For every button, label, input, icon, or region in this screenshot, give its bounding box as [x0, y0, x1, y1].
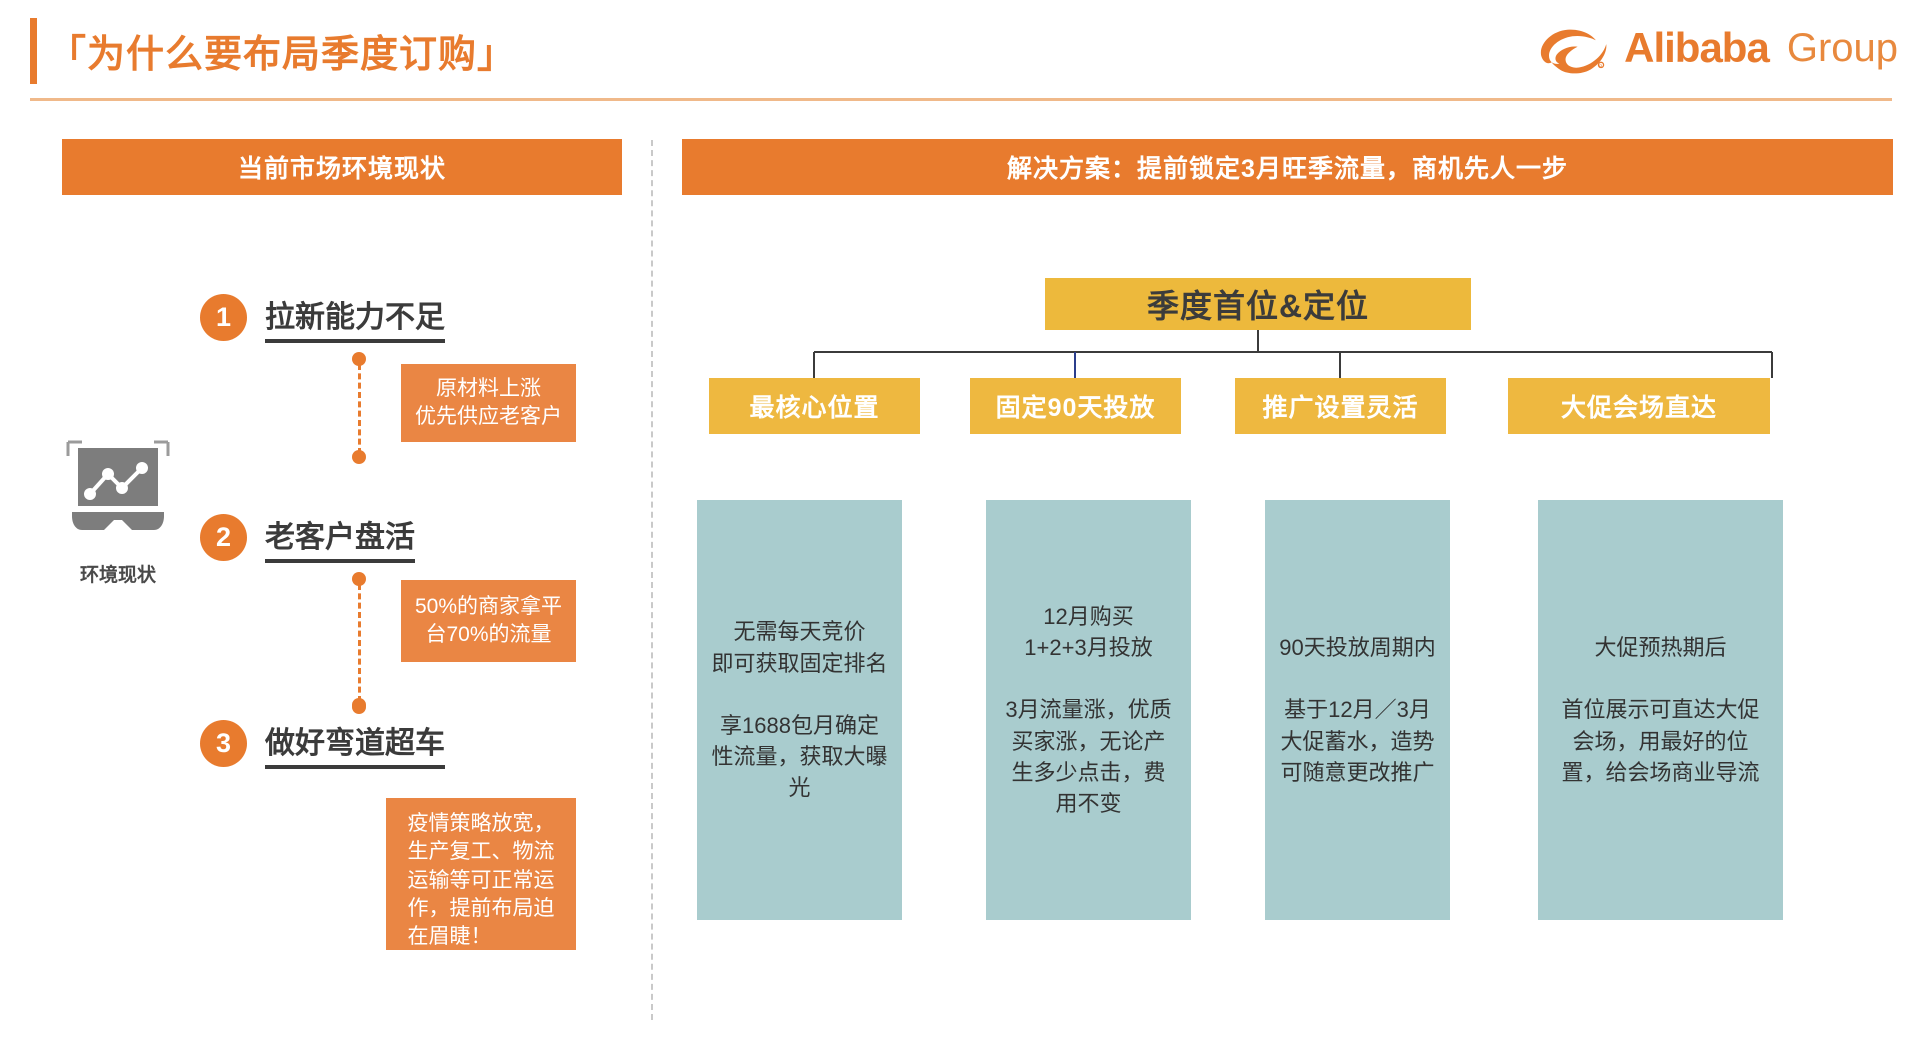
solution-root-box: 季度首位&定位 — [1045, 278, 1471, 330]
issue-callout-text: 疫情策略放宽， 生产复工、物流 运输等可正常运 作，提前布局迫 在眉睫！ — [408, 810, 555, 952]
issue-callout-text: 原材料上涨 优先供应老客户 — [415, 375, 562, 432]
solution-detail-text: 大促预热期后 首位展示可直达大促 会场，用最好的位 置，给会场商业导流 — [1561, 632, 1759, 788]
connector-dot — [352, 450, 366, 464]
chart-monitor-icon — [64, 438, 172, 548]
right-section-header: 解决方案：提前锁定3月旺季流量，商机先人一步 — [682, 139, 1893, 195]
issue-label: 拉新能力不足 — [265, 292, 445, 343]
solution-branch-label: 最核心位置 — [749, 388, 879, 424]
issue-item-3: 3 做好弯道超车 — [200, 718, 445, 769]
dashed-connector-1 — [352, 352, 366, 464]
dashed-connector-3 — [352, 700, 366, 714]
solution-branch-label: 推广设置灵活 — [1262, 388, 1418, 424]
solution-detail-panel-4: 大促预热期后 首位展示可直达大促 会场，用最好的位 置，给会场商业导流 — [1538, 500, 1783, 920]
solution-root-label: 季度首位&定位 — [1147, 281, 1369, 327]
alibaba-smiley-icon: R — [1536, 22, 1614, 74]
dashed-connector-2 — [352, 572, 366, 712]
connector-dot — [352, 700, 366, 714]
alibaba-group-logo: R Alibaba Group — [1536, 20, 1898, 76]
solution-detail-text: 12月购买 1+2+3月投放 3月流量涨，优质 买家涨，无论产 生多少点击，费 … — [1005, 601, 1171, 820]
issue-callout-3: 疫情策略放宽， 生产复工、物流 运输等可正常运 作，提前布局迫 在眉睫！ — [386, 798, 576, 950]
issue-callout-1: 原材料上涨 优先供应老客户 — [401, 364, 576, 442]
issue-label: 做好弯道超车 — [265, 718, 445, 769]
solution-branch-2: 固定90天投放 — [970, 378, 1181, 434]
solution-branch-4: 大促会场直达 — [1508, 378, 1770, 434]
logo-wordmark-group: Group — [1787, 28, 1898, 68]
solution-detail-text: 90天投放周期内 基于12月／3月 大促蓄水，造势 可随意更改推广 — [1279, 632, 1435, 788]
issue-callout-text: 50%的商家拿平 台70%的流量 — [415, 593, 562, 650]
environment-status-label: 环境现状 — [58, 560, 178, 587]
solution-branch-3: 推广设置灵活 — [1235, 378, 1446, 434]
issue-label: 老客户盘活 — [265, 512, 415, 563]
solution-detail-panel-3: 90天投放周期内 基于12月／3月 大促蓄水，造势 可随意更改推广 — [1265, 500, 1450, 920]
environment-status-icon-group: 环境现状 — [58, 438, 178, 587]
issue-number-badge: 1 — [200, 294, 247, 341]
solution-branch-1: 最核心位置 — [709, 378, 920, 434]
solution-branch-label: 固定90天投放 — [996, 388, 1156, 424]
column-divider — [651, 140, 653, 1020]
right-section-header-label: 解决方案：提前锁定3月旺季流量，商机先人一步 — [1007, 149, 1568, 185]
solution-detail-text: 无需每天竞价 即可获取固定排名 享1688包月确定 性流量，获取大曝 光 — [711, 616, 887, 803]
slide-root: 「为什么要布局季度订购」 R Alibaba Group 当前市场环境现状 — [0, 0, 1920, 1040]
issue-callout-2: 50%的商家拿平 台70%的流量 — [401, 580, 576, 662]
title-accent-bar — [30, 18, 37, 84]
solution-detail-panel-2: 12月购买 1+2+3月投放 3月流量涨，优质 买家涨，无论产 生多少点击，费 … — [986, 500, 1191, 920]
issue-number-badge: 3 — [200, 720, 247, 767]
solution-detail-panel-1: 无需每天竞价 即可获取固定排名 享1688包月确定 性流量，获取大曝 光 — [697, 500, 902, 920]
issue-item-2: 2 老客户盘活 — [200, 512, 415, 563]
issue-number-badge: 2 — [200, 514, 247, 561]
left-section-header: 当前市场环境现状 — [62, 139, 622, 195]
header-divider-rule — [30, 98, 1892, 101]
connector-dash-line — [358, 584, 361, 702]
left-section-header-label: 当前市场环境现状 — [238, 149, 446, 185]
solution-branch-label: 大促会场直达 — [1561, 388, 1717, 424]
page-title: 「为什么要布局季度订购」 — [48, 23, 516, 78]
slide-header: 「为什么要布局季度订购」 R Alibaba Group — [0, 0, 1920, 106]
logo-wordmark-alibaba: Alibaba — [1624, 27, 1769, 69]
issue-item-1: 1 拉新能力不足 — [200, 292, 445, 343]
connector-dash-line — [358, 364, 361, 454]
